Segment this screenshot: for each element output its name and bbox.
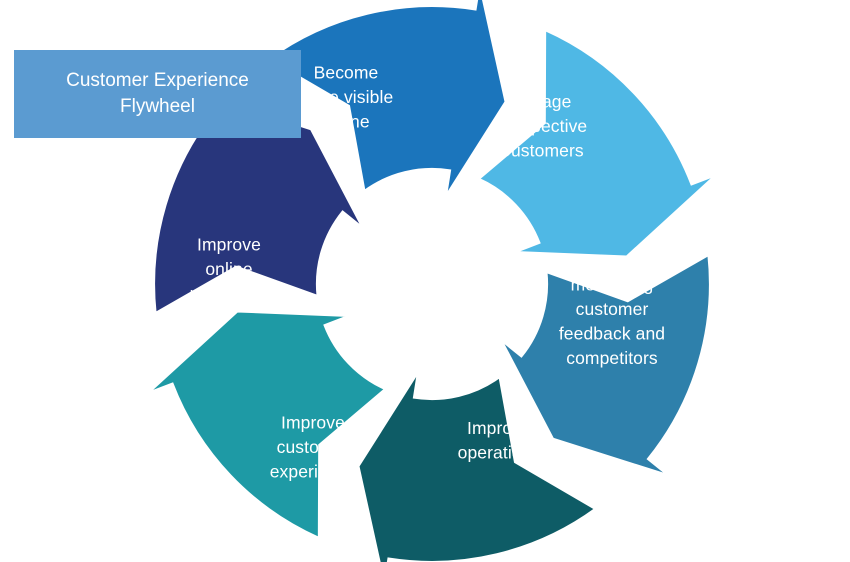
title-banner: Customer Experience Flywheel — [14, 50, 301, 138]
flywheel-segment-improve-customer-experience — [148, 311, 385, 538]
flywheel-diagram: Becomemore visibleonlineEngageProspectiv… — [0, 0, 850, 562]
page-title: Customer Experience Flywheel — [52, 68, 263, 120]
segment-label-improve-customer-experience: Improvecustomerexperience — [270, 412, 357, 481]
